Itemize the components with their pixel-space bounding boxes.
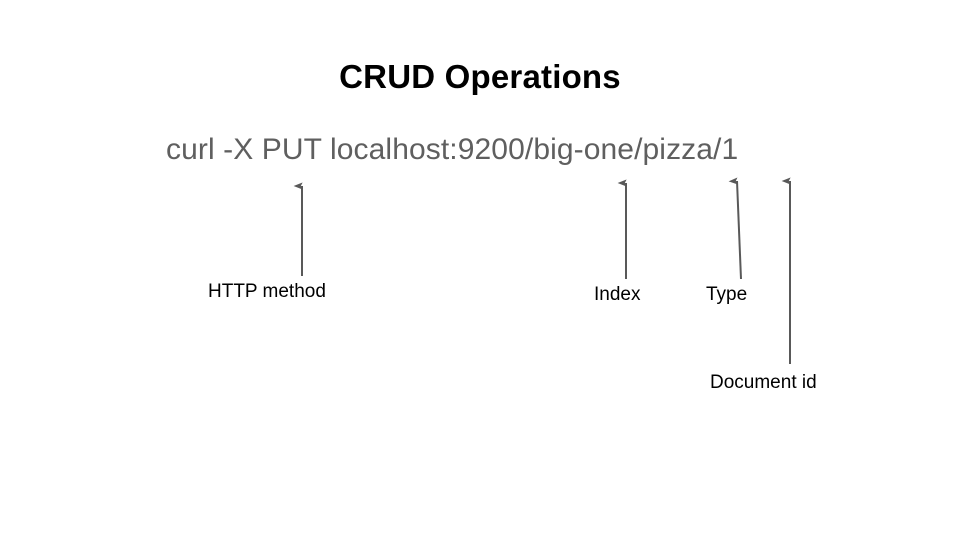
slide-canvas: CRUD Operations curl -X PUT localhost:92…: [0, 0, 960, 540]
callout-label-http-method: HTTP method: [208, 281, 326, 303]
page-title: CRUD Operations: [0, 58, 960, 96]
curl-command-text: curl -X PUT localhost:9200/big-one/pizza…: [166, 133, 738, 167]
callout-label-index: Index: [594, 284, 640, 306]
callout-label-type: Type: [706, 284, 747, 306]
arrow-type: [737, 181, 741, 279]
callout-label-document-id: Document id: [710, 372, 817, 394]
